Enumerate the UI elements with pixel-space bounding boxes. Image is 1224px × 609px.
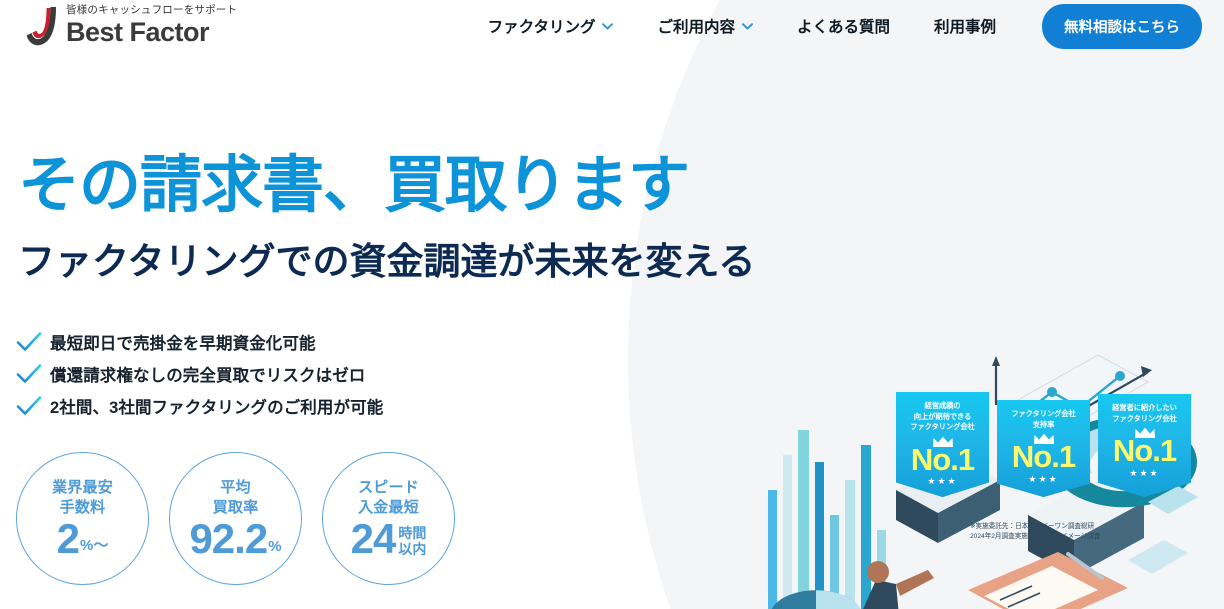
award-badge: 経営者に紹介したい ファクタリング会社 No.1 ★★★ bbox=[1098, 394, 1191, 497]
list-item-label: 最短即日で売掛金を早期資金化可能 bbox=[50, 330, 316, 354]
award-badge-title: 経営者に紹介したい ファクタリング会社 bbox=[1102, 403, 1187, 424]
award-badges-group: 経営成績の 向上が期待できる ファクタリング会社 No.1 ★★★ ファクタリン… bbox=[896, 392, 1191, 497]
chevron-down-icon bbox=[602, 23, 613, 30]
award-badge-title: ファクタリング会社 支持率 bbox=[1001, 409, 1086, 430]
award-badge-title-line: ファクタリング会社 bbox=[1102, 414, 1187, 425]
award-disclaimer: ※実施委託先：日本ナンバーワン調査総研 2024年2月調査実施：サイトのイメージ… bbox=[970, 522, 1100, 541]
key-stats-group: 業界最安 手数料 2 %〜 平均 買取率 92.2 % スピード 入金最短 bbox=[16, 452, 455, 585]
bar-chart-graphic bbox=[768, 430, 886, 609]
award-badge: 経営成績の 向上が期待できる ファクタリング会社 No.1 ★★★ bbox=[896, 392, 989, 497]
stat-label-line1: 平均 bbox=[213, 478, 259, 498]
hero-headline: その請求書、買取ります bbox=[18, 152, 689, 220]
isometric-analytics-illustration bbox=[628, 60, 1224, 609]
nav-item-label: 利用事例 bbox=[934, 15, 996, 37]
free-consultation-cta-button[interactable]: 無料相談はこちら bbox=[1042, 4, 1202, 49]
stat-unit: % bbox=[268, 538, 281, 559]
stat-label-line1: 業界最安 bbox=[52, 478, 113, 498]
stat-label: 平均 買取率 bbox=[213, 478, 259, 518]
stat-value: 2 %〜 bbox=[57, 519, 109, 559]
clipboard-graphic bbox=[968, 552, 1128, 609]
stat-label: 業界最安 手数料 bbox=[52, 478, 113, 518]
list-item-label: 2社間、3社間ファクタリングのご利用が可能 bbox=[50, 394, 383, 418]
award-badge-rank: No.1 bbox=[1001, 442, 1086, 471]
award-badge-title-line: ファクタリング会社 bbox=[1001, 409, 1086, 420]
nav-item-label: ファクタリング bbox=[488, 15, 596, 37]
award-badge-title-line: ファクタリング会社 bbox=[900, 422, 985, 433]
stat-number: 2 bbox=[57, 519, 79, 559]
nav-item-factoring[interactable]: ファクタリング bbox=[466, 15, 636, 37]
hero-subheadline: ファクタリングでの資金調達が未来を変える bbox=[18, 240, 755, 284]
page-root: 皆様のキャッシュフローをサポート Best Factor ファクタリング ご利用… bbox=[0, 0, 1224, 609]
stat-circle-lowest-fee: 業界最安 手数料 2 %〜 bbox=[16, 452, 149, 585]
list-item: 償還請求権なしの完全買取でリスクはゼロ bbox=[16, 358, 383, 390]
chevron-down-icon bbox=[742, 23, 753, 30]
award-disclaimer-line1: ※実施委託先：日本ナンバーワン調査総研 bbox=[970, 522, 1100, 532]
stat-circle-average-rate: 平均 買取率 92.2 % bbox=[169, 452, 302, 585]
check-icon bbox=[16, 395, 42, 417]
hero-benefit-list: 最短即日で売掛金を早期資金化可能 償還請求権なしの完全買取でリスクはゼロ bbox=[16, 326, 383, 422]
stat-value: 24 時間 以内 bbox=[351, 519, 427, 559]
stat-value: 92.2 % bbox=[189, 519, 281, 559]
stat-unit: %〜 bbox=[80, 534, 108, 559]
award-badge-stars: ★★★ bbox=[1102, 468, 1187, 485]
logo-wordmark: Best Factor bbox=[66, 18, 237, 46]
nav-item-services[interactable]: ご利用内容 bbox=[635, 15, 775, 37]
stat-unit: 時間 以内 bbox=[398, 525, 426, 559]
award-badge-stars: ★★★ bbox=[900, 476, 985, 493]
check-icon bbox=[16, 363, 42, 385]
award-disclaimer-line2: 2024年2月調査実施：サイトのイメージ調査 bbox=[970, 532, 1100, 542]
list-item: 最短即日で売掛金を早期資金化可能 bbox=[16, 326, 383, 358]
bestfactor-checkmark-logo-icon bbox=[26, 5, 62, 49]
stat-number: 24 bbox=[351, 519, 396, 559]
nav-item-case-studies[interactable]: 利用事例 bbox=[912, 15, 1018, 37]
nav-item-label: よくある質問 bbox=[797, 15, 890, 37]
stat-number: 92.2 bbox=[189, 519, 267, 559]
site-header: 皆様のキャッシュフローをサポート Best Factor ファクタリング ご利用… bbox=[0, 0, 1224, 52]
award-badge-title: 経営成績の 向上が期待できる ファクタリング会社 bbox=[900, 401, 985, 433]
list-item-label: 償還請求権なしの完全買取でリスクはゼロ bbox=[50, 362, 365, 386]
award-badge-stars: ★★★ bbox=[1001, 474, 1086, 491]
stat-unit-line2: 以内 bbox=[398, 541, 426, 557]
person-figure-graphic bbox=[860, 561, 934, 609]
stat-label-line1: スピード bbox=[358, 478, 419, 498]
logo[interactable]: 皆様のキャッシュフローをサポート Best Factor bbox=[26, 3, 256, 49]
stat-label: スピード 入金最短 bbox=[358, 478, 419, 518]
hero-illustration-area: 経営成績の 向上が期待できる ファクタリング会社 No.1 ★★★ ファクタリン… bbox=[628, 60, 1224, 609]
stat-unit-line1: 時間 bbox=[398, 525, 426, 541]
nav-item-faq[interactable]: よくある質問 bbox=[775, 15, 912, 37]
logo-tagline: 皆様のキャッシュフローをサポート bbox=[66, 5, 237, 17]
award-badge-title-line: 支持率 bbox=[1001, 420, 1086, 431]
nav-item-label: ご利用内容 bbox=[657, 15, 735, 37]
stat-circle-speed: スピード 入金最短 24 時間 以内 bbox=[322, 452, 455, 585]
award-badge-rank: No.1 bbox=[900, 445, 985, 474]
check-icon bbox=[16, 331, 42, 353]
award-badge-title-line: 経営者に紹介したい bbox=[1102, 403, 1187, 414]
award-badge-rank: No.1 bbox=[1102, 436, 1187, 465]
main-navigation: ファクタリング ご利用内容 よくある質問 利用事例 無料相談はこちら bbox=[466, 4, 1202, 49]
list-item: 2社間、3社間ファクタリングのご利用が可能 bbox=[16, 390, 383, 422]
award-badge-title-line: 向上が期待できる bbox=[900, 412, 985, 423]
award-badge-title-line: 経営成績の bbox=[900, 401, 985, 412]
award-badge: ファクタリング会社 支持率 No.1 ★★★ bbox=[997, 400, 1090, 497]
